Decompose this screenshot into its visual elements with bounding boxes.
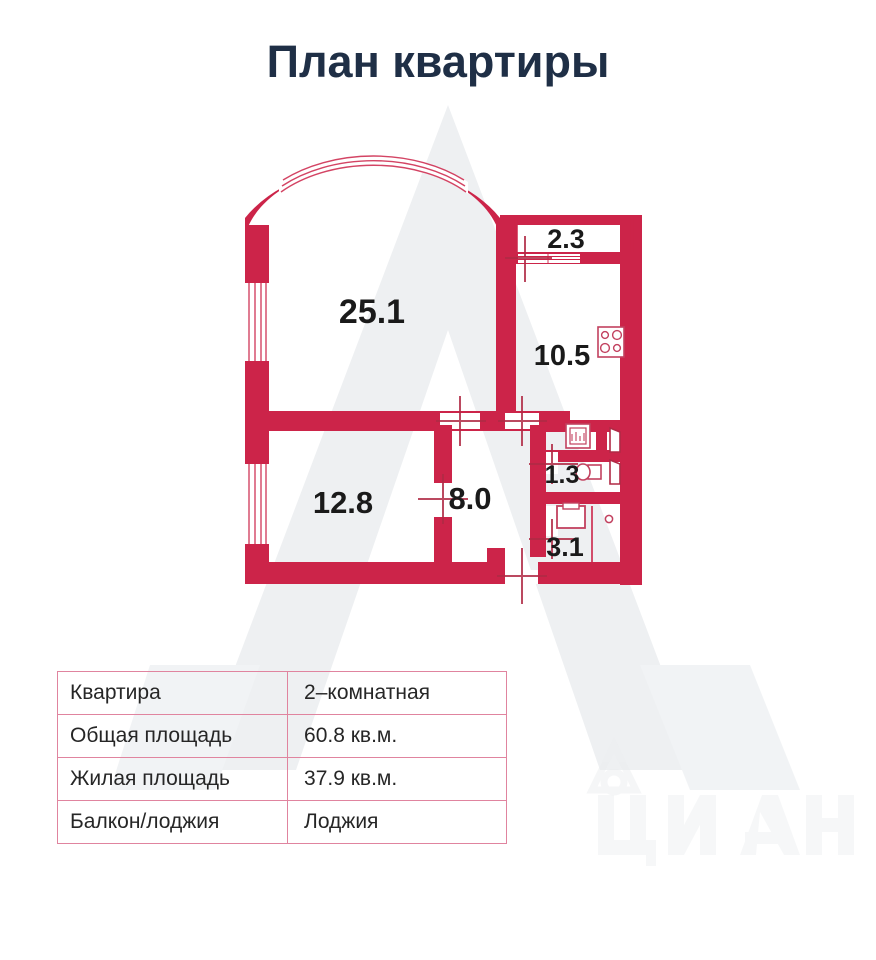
table-row: Балкон/лоджия Лоджия bbox=[58, 801, 507, 844]
info-value: Лоджия bbox=[288, 801, 507, 844]
info-label: Квартира bbox=[58, 672, 288, 715]
info-value: 37.9 кв.м. bbox=[288, 758, 507, 801]
room-label-loggia: 2.3 bbox=[547, 224, 585, 254]
info-value: 60.8 кв.м. bbox=[288, 715, 507, 758]
stove-icon bbox=[598, 327, 624, 357]
room-label-bathroom: 3.1 bbox=[546, 532, 584, 562]
info-label: Жилая площадь bbox=[58, 758, 288, 801]
room-label-toilet: 1.3 bbox=[545, 461, 580, 489]
floor-drain-icon bbox=[605, 515, 612, 522]
info-label: Балкон/лоджия bbox=[58, 801, 288, 844]
washer-icon bbox=[566, 424, 590, 448]
table-row: Общая площадь 60.8 кв.м. bbox=[58, 715, 507, 758]
info-value: 2–комнатная bbox=[288, 672, 507, 715]
floor-plan-page: План квартиры bbox=[0, 0, 876, 960]
room-label-hallway: 8.0 bbox=[448, 481, 491, 516]
bathtub-icon bbox=[557, 503, 585, 528]
toilet-icon bbox=[576, 464, 601, 480]
room-label-living-room: 25.1 bbox=[339, 293, 405, 331]
room-label-kitchen: 10.5 bbox=[534, 340, 590, 372]
room-label-bedroom: 12.8 bbox=[313, 485, 373, 520]
table-row: Квартира 2–комнатная bbox=[58, 672, 507, 715]
table-row: Жилая площадь 37.9 кв.м. bbox=[58, 758, 507, 801]
info-label: Общая площадь bbox=[58, 715, 288, 758]
apartment-info-table: Квартира 2–комнатная Общая площадь 60.8 … bbox=[57, 671, 507, 844]
